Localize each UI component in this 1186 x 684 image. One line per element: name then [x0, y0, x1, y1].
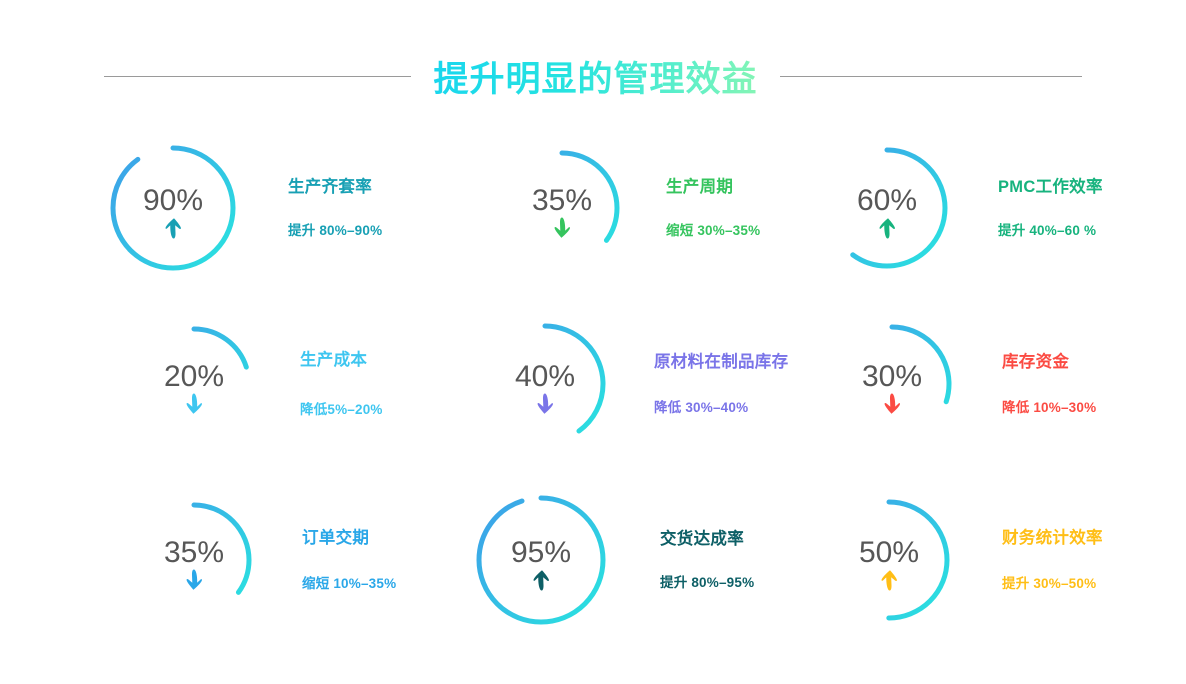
ring-gauge: 35%	[130, 496, 258, 624]
percent-value: 95%	[470, 538, 612, 568]
percent-value: 60%	[820, 186, 954, 216]
page-title: 提升明显的管理效益	[433, 51, 757, 102]
metric-title: 生产齐套率	[288, 179, 470, 196]
infographic-page: 提升明显的管理效益 90%生产齐套率提升 80%–90%35%生产周期缩短 30…	[0, 0, 1186, 684]
metric-title: PMC工作效率	[998, 179, 1182, 196]
metric-subtitle: 提升 40%–60 %	[998, 224, 1182, 238]
up-arrow-icon	[470, 568, 612, 592]
ring-gauge: 30%	[826, 318, 958, 450]
percent-value: 90%	[104, 186, 242, 216]
down-arrow-icon	[130, 392, 258, 416]
up-arrow-icon	[822, 568, 956, 592]
metric-subtitle: 提升 80%–95%	[660, 576, 812, 590]
metric-labels: 生产周期缩短 30%–35%	[666, 179, 812, 238]
metric-subtitle: 缩短 30%–35%	[666, 224, 812, 238]
percent-value: 30%	[826, 362, 958, 392]
metric-labels: 库存资金降低 10%–30%	[1002, 354, 1182, 415]
ring-gauge: 60%	[820, 141, 954, 275]
metric-labels: 原材料在制品库存降低 30%–40%	[654, 354, 812, 414]
down-arrow-icon	[498, 216, 626, 240]
metric-subtitle: 降低5%–20%	[300, 403, 470, 417]
metric-title: 交货达成率	[660, 531, 812, 548]
metric-labels: 财务统计效率提升 30%–50%	[1002, 530, 1182, 591]
percent-value: 40%	[478, 362, 612, 392]
up-arrow-icon	[820, 216, 954, 240]
down-arrow-icon	[478, 392, 612, 416]
metric-cell: 60%PMC工作效率提升 40%–60 %	[812, 120, 1182, 296]
metric-subtitle: 降低 30%–40%	[654, 401, 812, 415]
header-rule-right	[780, 76, 1082, 77]
ring-gauge: 35%	[498, 144, 626, 272]
metric-title: 库存资金	[1002, 354, 1182, 371]
metric-cell: 20%生产成本降低5%–20%	[104, 296, 470, 472]
metric-title: 财务统计效率	[1002, 530, 1182, 547]
metric-title: 生产成本	[300, 352, 470, 369]
percent-value: 35%	[130, 538, 258, 568]
ring-gauge: 95%	[470, 489, 612, 631]
metric-cell: 35%订单交期缩短 10%–35%	[104, 472, 470, 648]
metric-labels: 生产成本降低5%–20%	[300, 352, 470, 416]
metric-subtitle: 降低 10%–30%	[1002, 401, 1182, 415]
metrics-grid: 90%生产齐套率提升 80%–90%35%生产周期缩短 30%–35%60%PM…	[0, 120, 1186, 660]
ring-gauge: 50%	[822, 493, 956, 627]
percent-value: 20%	[130, 362, 258, 392]
metric-subtitle: 缩短 10%–35%	[302, 577, 470, 591]
ring-gauge: 40%	[478, 317, 612, 451]
metric-labels: 订单交期缩短 10%–35%	[302, 530, 470, 591]
metric-cell: 95%交货达成率提升 80%–95%	[470, 472, 812, 648]
metric-cell: 30%库存资金降低 10%–30%	[812, 296, 1182, 472]
metric-subtitle: 提升 80%–90%	[288, 224, 470, 238]
header-rule-left	[104, 76, 411, 77]
page-header: 提升明显的管理效益	[0, 52, 1186, 100]
down-arrow-icon	[826, 392, 958, 416]
metric-subtitle: 提升 30%–50%	[1002, 577, 1182, 591]
metric-labels: 交货达成率提升 80%–95%	[660, 531, 812, 590]
metric-title: 生产周期	[666, 179, 812, 196]
ring-gauge: 20%	[130, 320, 258, 448]
metric-cell: 90%生产齐套率提升 80%–90%	[104, 120, 470, 296]
metric-title: 订单交期	[302, 530, 470, 547]
percent-value: 35%	[498, 186, 626, 216]
ring-gauge: 90%	[104, 139, 242, 277]
metric-labels: 生产齐套率提升 80%–90%	[288, 179, 470, 238]
metric-cell: 50%财务统计效率提升 30%–50%	[812, 472, 1182, 648]
metric-labels: PMC工作效率提升 40%–60 %	[998, 179, 1182, 238]
percent-value: 50%	[822, 538, 956, 568]
metric-cell: 40%原材料在制品库存降低 30%–40%	[470, 296, 812, 472]
up-arrow-icon	[104, 216, 242, 240]
metric-cell: 35%生产周期缩短 30%–35%	[470, 120, 812, 296]
metric-title: 原材料在制品库存	[654, 354, 812, 371]
down-arrow-icon	[130, 568, 258, 592]
